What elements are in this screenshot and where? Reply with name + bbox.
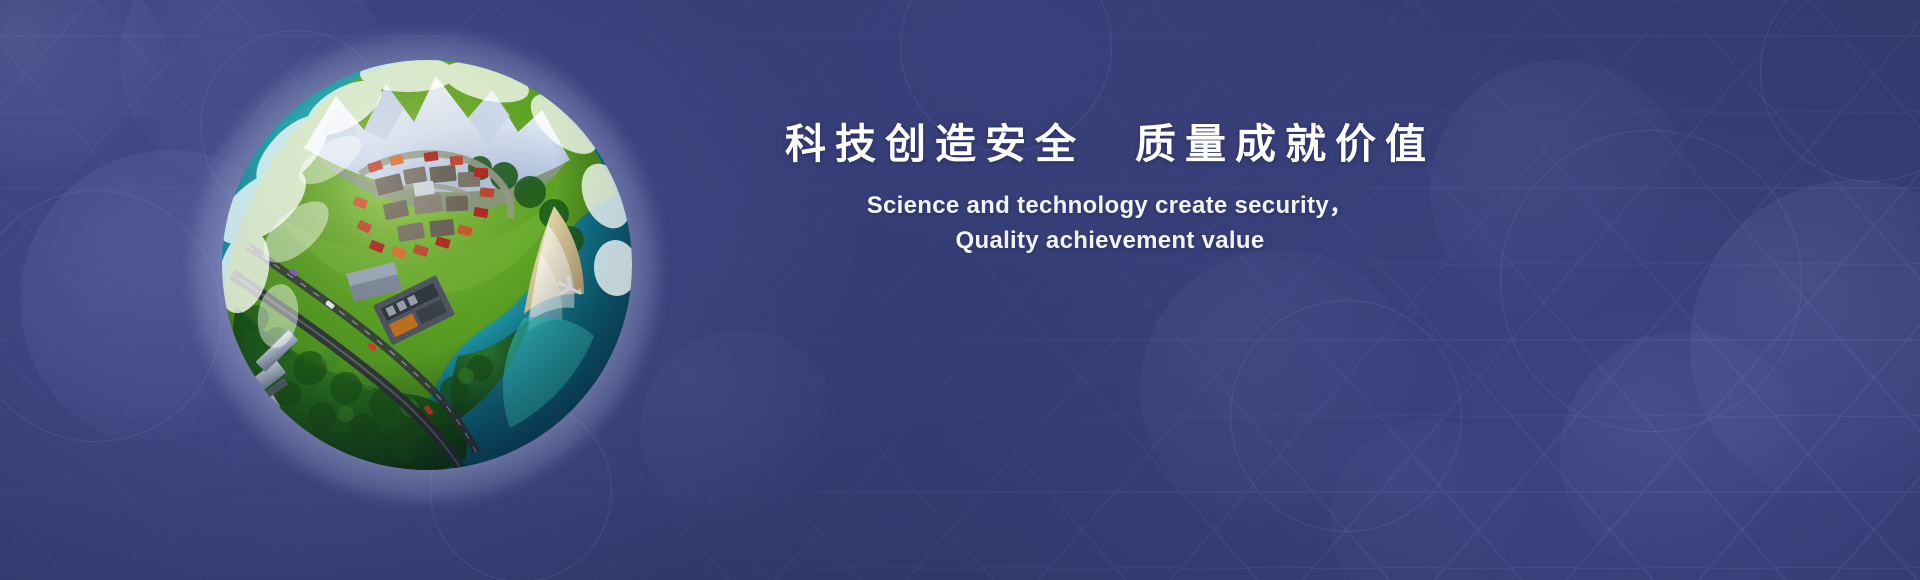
subtitle-line-2: Quality achievement value — [760, 224, 1460, 259]
headline-chinese: 科技创造安全 质量成就价值 — [760, 120, 1460, 169]
hero-banner: 科技创造安全 质量成就价值 Science and technology cre… — [0, 0, 1920, 580]
subtitle-english: Science and technology create security， … — [760, 189, 1460, 259]
tiny-planet-globe — [218, 56, 636, 474]
banner-copy: 科技创造安全 质量成就价值 Science and technology cre… — [760, 120, 1460, 259]
subtitle-line-1: Science and technology create security， — [760, 189, 1460, 224]
globe-artwork — [196, 36, 651, 506]
